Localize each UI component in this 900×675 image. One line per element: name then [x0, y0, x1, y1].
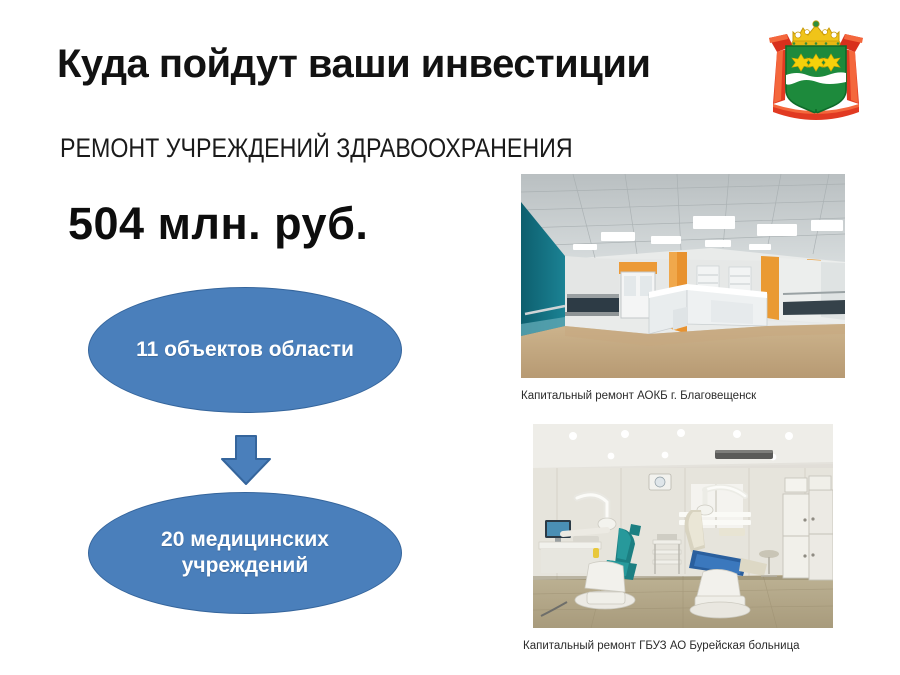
slide-subtitle: РЕМОНТ УЧРЕЖДЕНИЙ ЗДРАВООХРАНЕНИЯ: [60, 133, 573, 164]
page-title: Куда пойдут ваши инвестиции: [57, 42, 651, 87]
flower-icons: [792, 54, 840, 71]
photo-caption-hospital: Капитальный ремонт АОКБ г. Благовещенск: [521, 390, 756, 402]
coat-of-arms-icon: [757, 8, 875, 126]
arrow-down-icon: [219, 434, 273, 486]
shield-shape: [786, 46, 846, 113]
presentation-slide: Куда пойдут ваши инвестиции: [0, 0, 900, 675]
flow-node-institutions-label: 20 медицинских учреждений: [89, 527, 401, 578]
crown-shape: [792, 21, 840, 46]
flow-node-objects: 11 объектов области: [88, 287, 402, 413]
investment-amount: 504 млн. руб.: [68, 198, 368, 250]
photo-caption-dental: Капитальный ремонт ГБУЗ АО Бурейская бол…: [523, 640, 800, 652]
flow-node-objects-label: 11 объектов области: [114, 337, 376, 363]
flow-node-institutions: 20 медицинских учреждений: [88, 492, 402, 614]
photo-hospital-corridor: [521, 174, 845, 378]
photo-dental-office: [533, 424, 833, 628]
